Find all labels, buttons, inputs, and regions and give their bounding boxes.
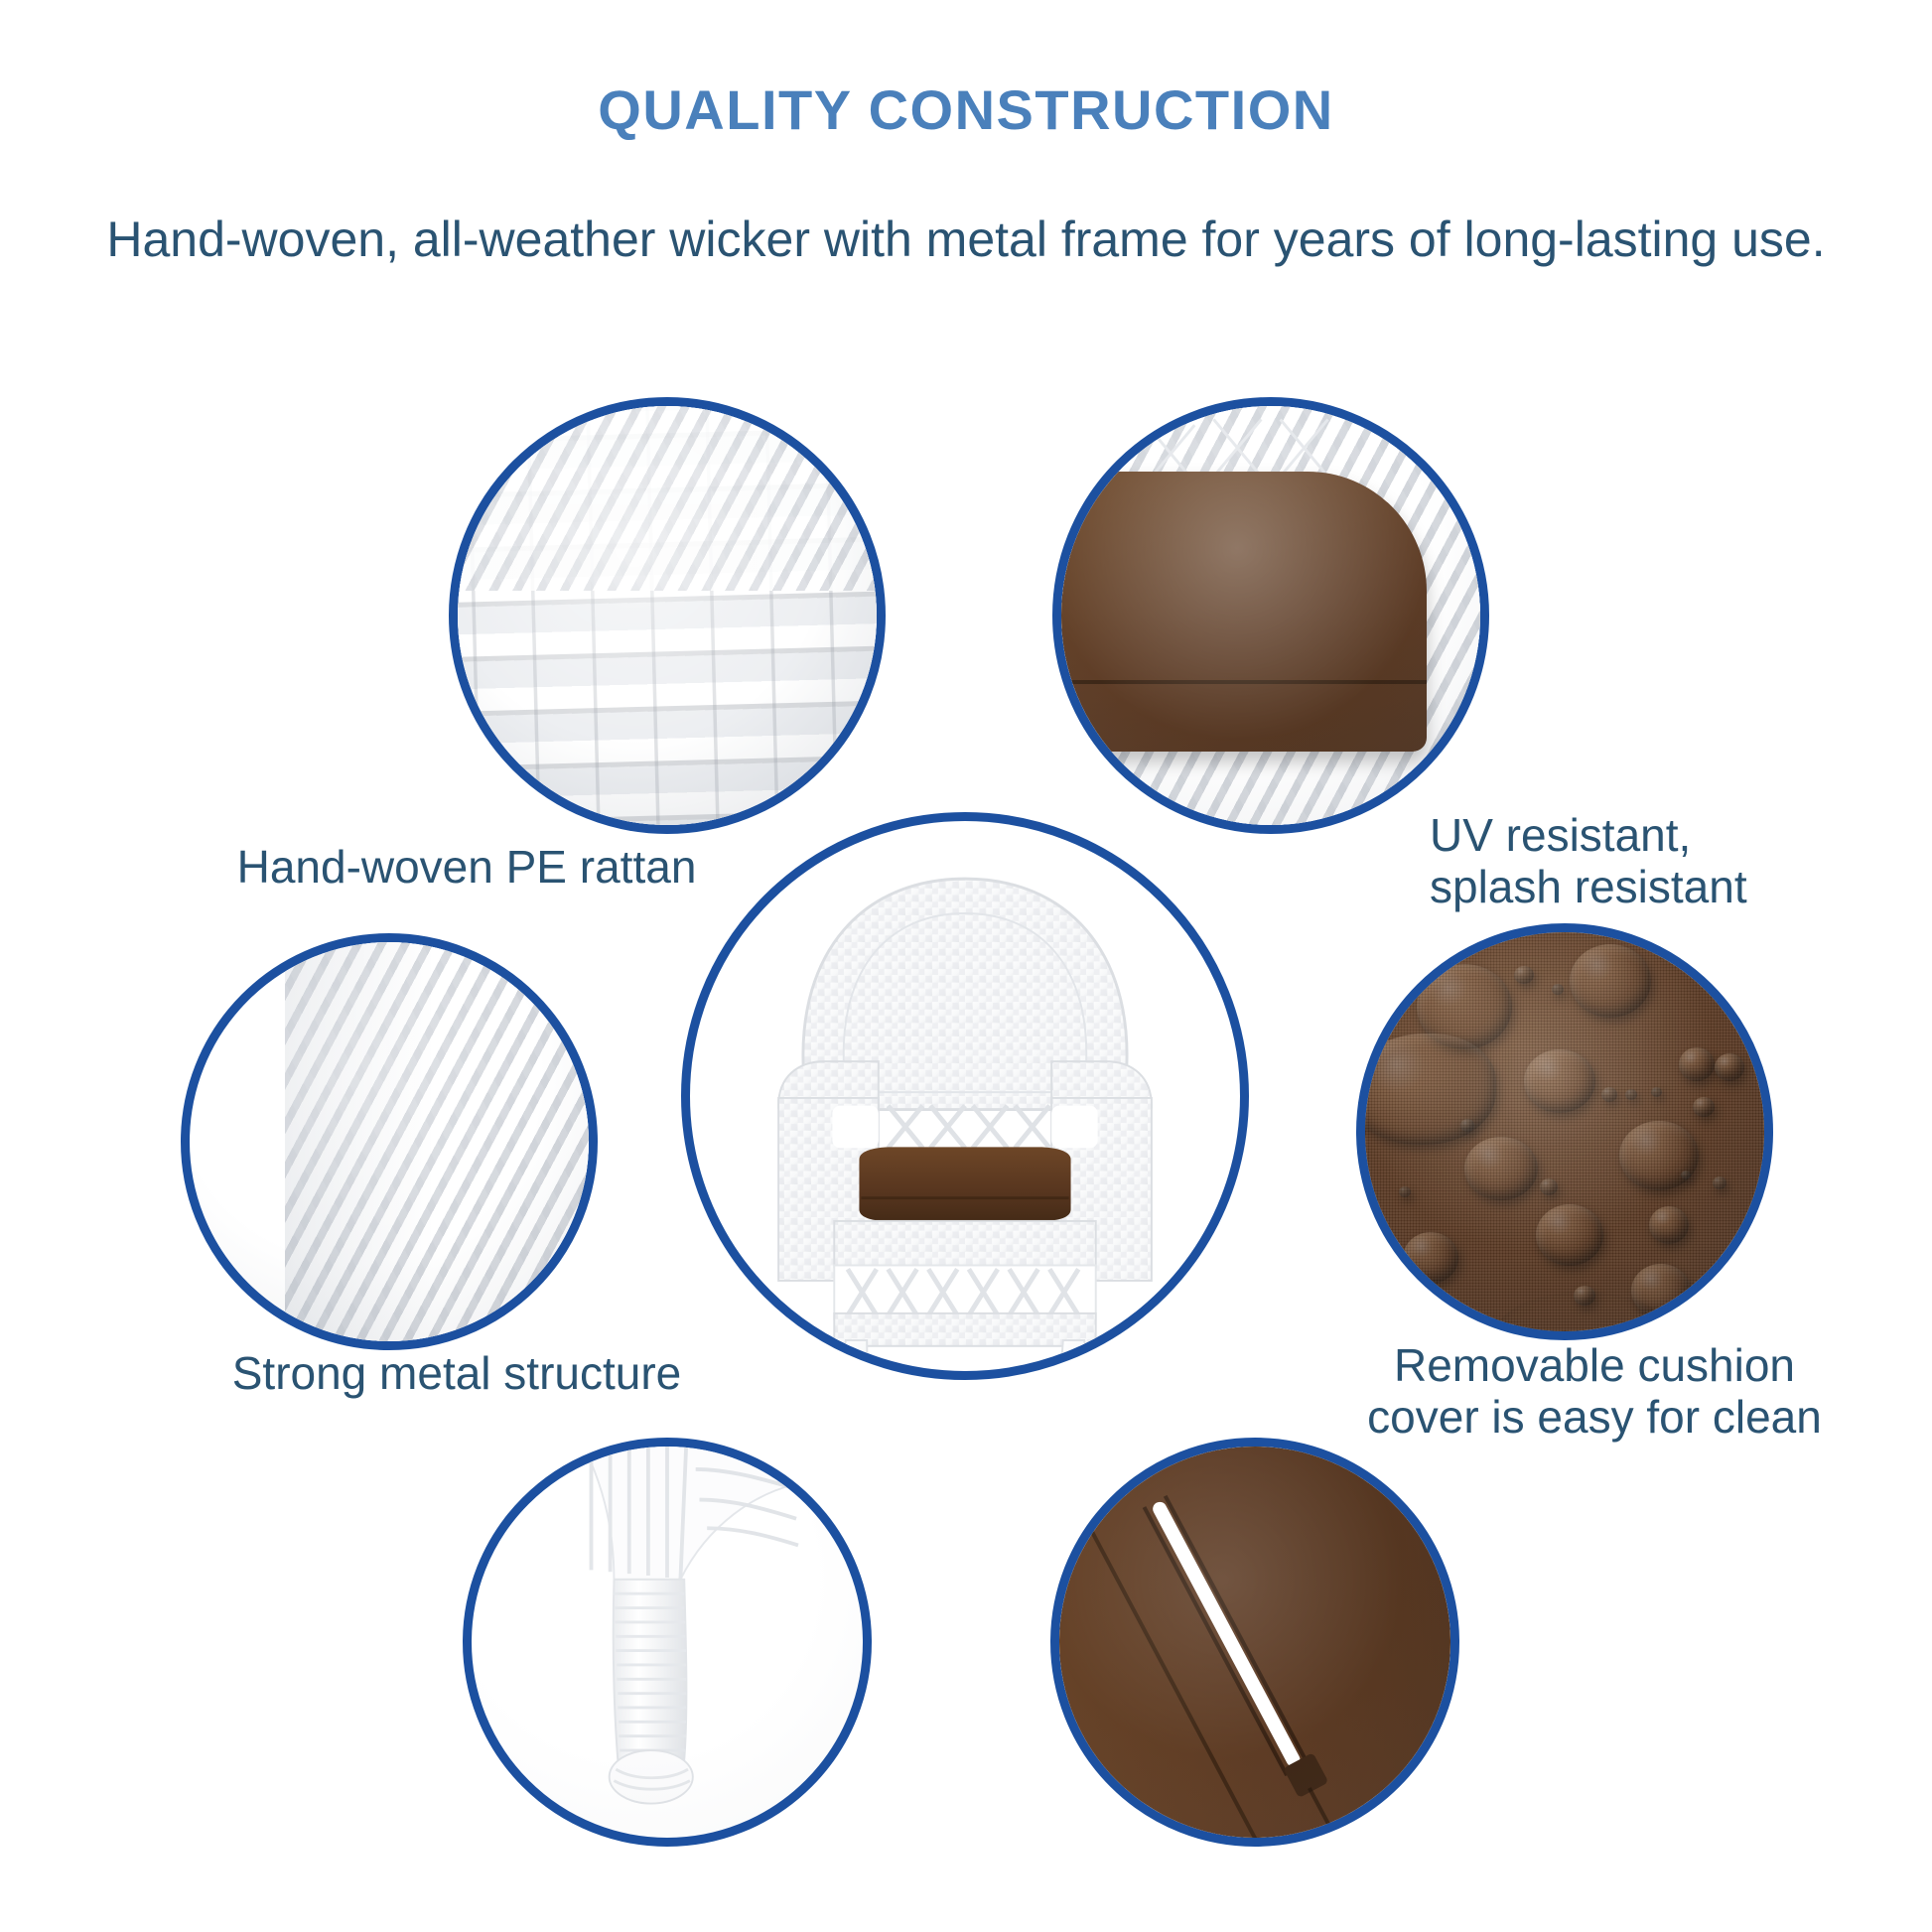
feature-bubble-uv-splash-resistant <box>1052 397 1489 834</box>
chair-arm-corner-photo <box>190 942 589 1341</box>
hand-woven-rattan-photo <box>458 406 877 825</box>
feature-bubble-chair-overview <box>681 812 1249 1380</box>
label-uv-splash-resistant: UV resistant, splash resistant <box>1430 810 1932 912</box>
infographic-canvas: QUALITY CONSTRUCTION Hand-woven, all-wea… <box>0 0 1932 1932</box>
zipper-opening <box>1151 1499 1303 1768</box>
feature-bubble-hand-woven-pe-rattan <box>449 397 886 834</box>
feature-bubble-strong-metal-structure <box>181 933 598 1350</box>
seat-cushion <box>859 1147 1070 1221</box>
feature-bubble-removable-cushion-cover <box>1356 923 1773 1340</box>
feature-bubble-cushion-zipper-detail <box>1050 1438 1459 1847</box>
wicker-chair-illustration <box>690 821 1240 1371</box>
cushion-seam <box>1061 680 1427 684</box>
cushion-closeup-photo <box>1061 406 1480 825</box>
cushion-zipper-photo <box>1059 1447 1450 1838</box>
label-strong-metal-structure: Strong metal structure <box>149 1348 764 1400</box>
page-title: QUALITY CONSTRUCTION <box>0 77 1932 142</box>
water-droplets-photo <box>1365 932 1764 1331</box>
chair-leg-photo <box>472 1447 863 1838</box>
label-hand-woven-pe-rattan: Hand-woven PE rattan <box>159 842 774 894</box>
wicker-chair-photo <box>690 821 1240 1371</box>
seat-cushion <box>1061 472 1427 752</box>
feature-bubble-chair-leg-detail <box>463 1438 872 1847</box>
label-removable-cushion-cover: Removable cushion cover is easy for clea… <box>1287 1340 1902 1443</box>
page-subtitle: Hand-woven, all-weather wicker with meta… <box>0 210 1932 268</box>
